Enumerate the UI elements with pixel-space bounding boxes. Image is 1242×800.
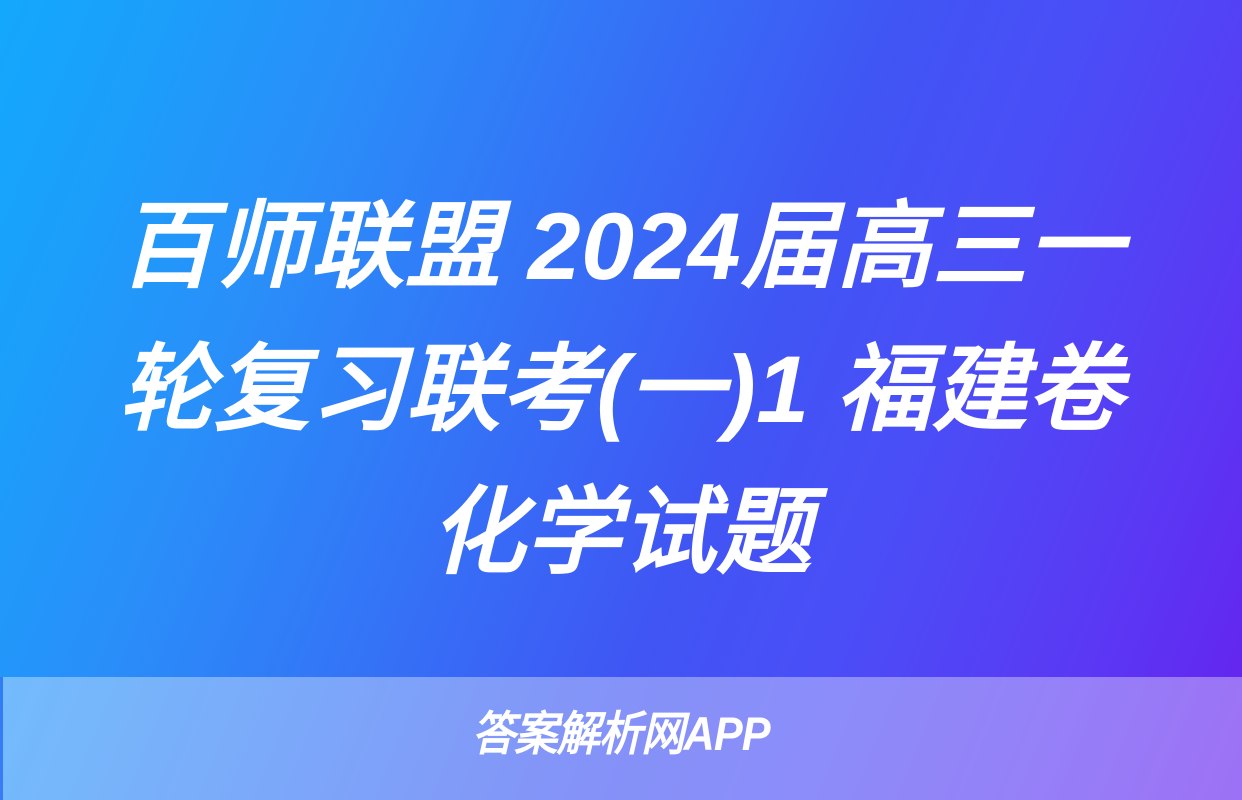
title-line-1: 百师联盟 2024届高三一	[54, 176, 1188, 319]
watermark: 答案解析网APP	[0, 706, 1242, 762]
title-line-3: 化学试题	[54, 462, 1188, 605]
page-title: 百师联盟 2024届高三一 轮复习联考(一)1 福建卷 化学试题	[0, 176, 1242, 605]
watermark-label: 答案解析网APP	[472, 706, 770, 762]
title-line-2: 轮复习联考(一)1 福建卷	[54, 319, 1188, 462]
exam-title-poster: 百师联盟 2024届高三一 轮复习联考(一)1 福建卷 化学试题 答案解析网AP…	[0, 0, 1242, 800]
